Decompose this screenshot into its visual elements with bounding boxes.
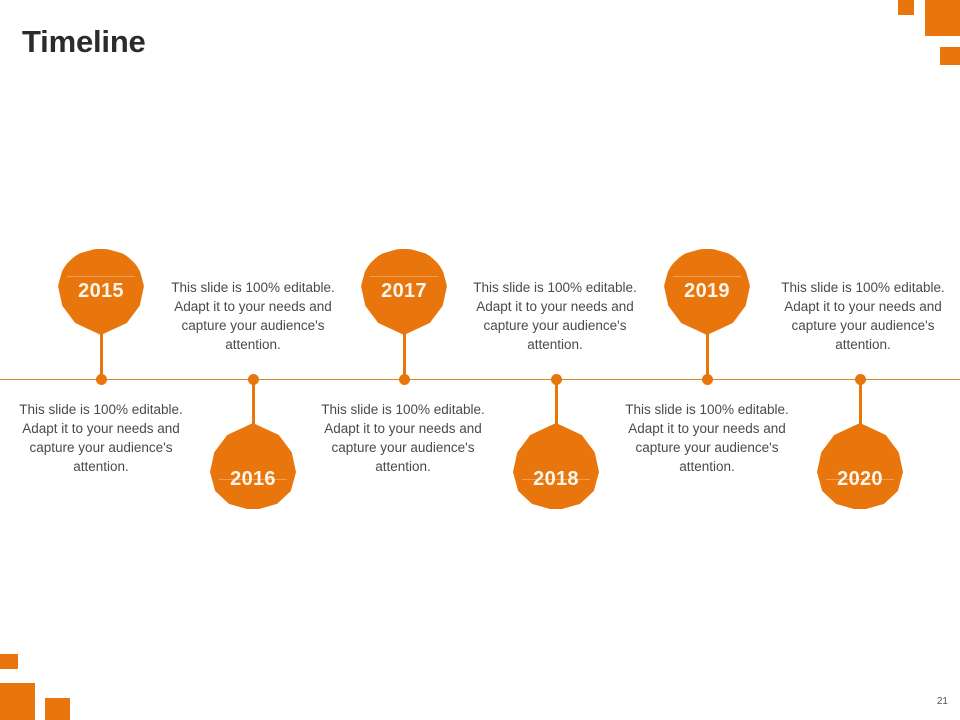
balloon-highlight-band-2019 — [673, 276, 741, 277]
year-label-2020: 2020 — [817, 468, 903, 491]
decoration-square-bottom-left-1 — [0, 654, 18, 669]
marker-stem-2015 — [100, 331, 103, 379]
description-upper-2: This slide is 100% editable. Adapt it to… — [472, 278, 638, 354]
balloon-highlight-band-2017 — [370, 276, 438, 277]
description-upper-3: This slide is 100% editable. Adapt it to… — [780, 278, 946, 354]
balloon-shape-2018 — [513, 423, 599, 509]
decoration-square-top-right-3 — [940, 47, 960, 65]
year-label-2016: 2016 — [210, 468, 296, 491]
marker-stem-2019 — [706, 331, 709, 379]
decoration-square-top-right-2 — [925, 0, 960, 36]
balloon-highlight-band-2015 — [67, 276, 135, 277]
axis-dot-2015 — [96, 374, 107, 385]
balloon-shape-2020 — [817, 423, 903, 509]
axis-dot-2019 — [702, 374, 713, 385]
year-label-2015: 2015 — [58, 280, 144, 303]
page-title: Timeline — [22, 24, 146, 60]
decoration-square-top-right-1 — [898, 0, 914, 15]
marker-stem-2020 — [859, 379, 862, 425]
description-upper-1: This slide is 100% editable. Adapt it to… — [170, 278, 336, 354]
page-number: 21 — [937, 696, 948, 707]
year-label-2018: 2018 — [513, 468, 599, 491]
timeline-axis — [0, 379, 960, 380]
description-lower-3: This slide is 100% editable. Adapt it to… — [624, 400, 790, 476]
axis-dot-2020 — [855, 374, 866, 385]
year-label-2019: 2019 — [664, 280, 750, 303]
year-label-2017: 2017 — [361, 280, 447, 303]
balloon-shape-2016 — [210, 423, 296, 509]
decoration-square-bottom-left-2 — [0, 683, 35, 720]
axis-dot-2018 — [551, 374, 562, 385]
decoration-square-bottom-left-3 — [45, 698, 70, 720]
marker-stem-2018 — [555, 379, 558, 425]
axis-dot-2017 — [399, 374, 410, 385]
axis-dot-2016 — [248, 374, 259, 385]
marker-stem-2016 — [252, 379, 255, 425]
description-lower-2: This slide is 100% editable. Adapt it to… — [320, 400, 486, 476]
marker-stem-2017 — [403, 331, 406, 379]
description-lower-1: This slide is 100% editable. Adapt it to… — [18, 400, 184, 476]
timeline-slide: Timeline 2015 2016 2017 2018 2019 — [0, 0, 960, 720]
